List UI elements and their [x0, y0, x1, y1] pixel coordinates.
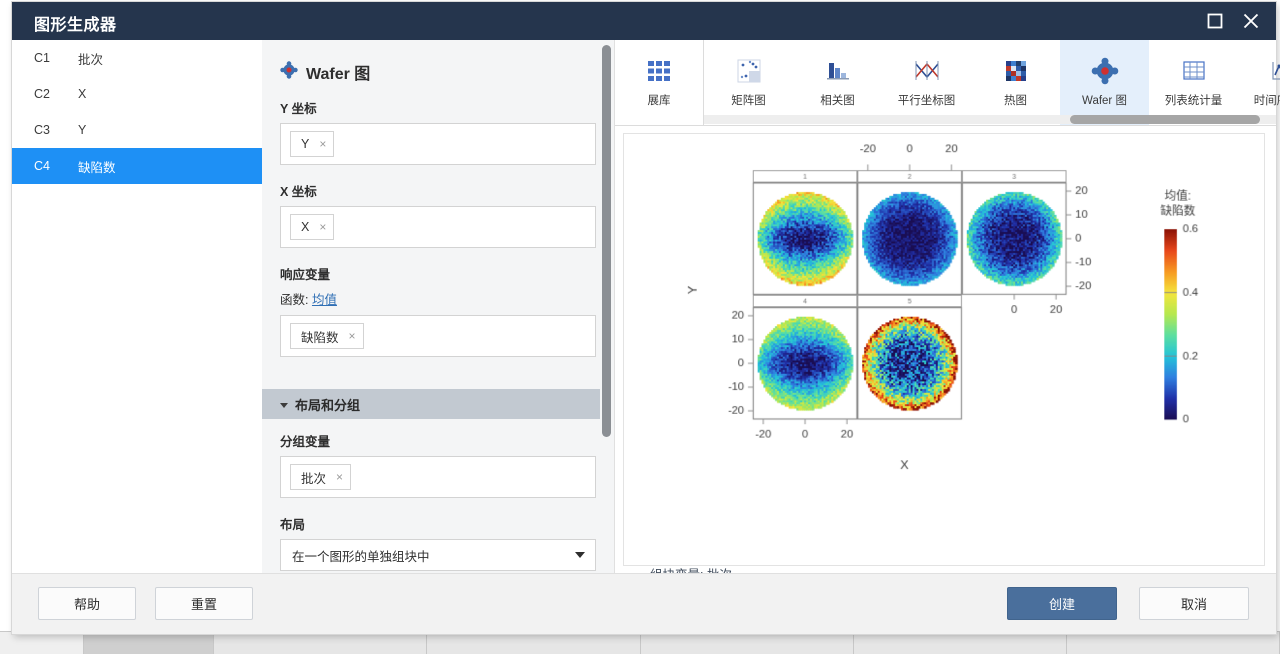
gallery-grid-icon [646, 57, 672, 85]
chip-label: Y [301, 137, 309, 151]
x-axis-dropzone[interactable]: X × [280, 206, 596, 248]
dialog-titlebar: 图形生成器 [12, 2, 1276, 40]
column-id: C1 [12, 51, 78, 65]
response-variable-label: 响应变量 [280, 264, 596, 283]
worksheet-column-header[interactable] [84, 632, 214, 654]
column-row-c4[interactable]: C4 缺陷数 [12, 148, 262, 184]
heatmap-icon [1003, 57, 1029, 85]
column-name: X [78, 87, 262, 101]
column-name: 缺陷数 [78, 157, 262, 176]
function-prefix: 函数: [280, 293, 308, 307]
gallery-item-label: 矩阵图 [731, 92, 766, 108]
chip-y[interactable]: Y × [290, 131, 334, 157]
chip-remove-icon[interactable]: × [319, 220, 326, 234]
column-row-c1[interactable]: C1 批次 [12, 40, 262, 76]
layout-grouping-section: 分组变量 批次 × 布局 在一个图形的单独组块中 [262, 419, 614, 574]
gallery-item-heatmap[interactable]: 热图 [971, 40, 1060, 125]
options-scroll-content: Wafer 图 Y 坐标 Y × X 坐标 X × [262, 40, 614, 574]
worksheet-column-header[interactable] [427, 632, 640, 654]
help-button[interactable]: 帮助 [38, 587, 136, 620]
x-axis-label: X 坐标 [280, 181, 596, 200]
table-stats-icon [1181, 57, 1207, 85]
section-heading-label: Wafer 图 [306, 60, 370, 84]
create-button[interactable]: 创建 [1007, 587, 1117, 620]
response-dropzone[interactable]: 缺陷数 × [280, 315, 596, 357]
window-controls [1204, 2, 1262, 40]
function-link[interactable]: 均值 [312, 293, 337, 307]
parallel-coordinates-icon [912, 57, 942, 85]
gallery-item-label: 热图 [1004, 92, 1027, 108]
wafer-icon [280, 61, 298, 84]
column-name: Y [78, 123, 262, 137]
column-name: 批次 [78, 49, 262, 68]
dialog-title: 图形生成器 [34, 11, 117, 35]
close-icon[interactable] [1240, 10, 1262, 32]
gallery-item-matrix-plot[interactable]: 矩阵图 [704, 40, 793, 125]
chip-remove-icon[interactable]: × [319, 137, 326, 151]
chip-response[interactable]: 缺陷数 × [290, 323, 364, 349]
right-panel: 展库 矩阵图 [615, 40, 1276, 574]
options-panel: Wafer 图 Y 坐标 Y × X 坐标 X × [262, 40, 615, 574]
chip-remove-icon[interactable]: × [349, 329, 356, 343]
graph-builder-dialog: 图形生成器 C1 批次 C2 X [12, 2, 1276, 634]
dialog-footer: 帮助 重置 创建 取消 [12, 573, 1276, 634]
worksheet-column-header[interactable] [1067, 632, 1280, 654]
section-heading: Wafer 图 [280, 60, 596, 84]
group-variable-label: 分组变量 [280, 431, 596, 450]
chip-remove-icon[interactable]: × [336, 470, 343, 484]
wafer-map-icon [1091, 57, 1119, 85]
columns-list: C1 批次 C2 X C3 Y C4 缺陷数 [12, 40, 263, 574]
column-id: C2 [12, 87, 78, 101]
y-axis-dropzone[interactable]: Y × [280, 123, 596, 165]
section-layout-grouping-label: 布局和分组 [295, 395, 360, 414]
gallery-item-label: Wafer 图 [1082, 92, 1127, 108]
dialog-body: C1 批次 C2 X C3 Y C4 缺陷数 [12, 40, 1276, 574]
layout-select[interactable]: 在一个图形的单独组块中 [280, 539, 596, 571]
worksheet-column-header[interactable] [214, 632, 427, 654]
correlogram-icon [824, 57, 852, 85]
gallery-item-correlogram[interactable]: 相关图 [793, 40, 882, 125]
layout-label: 布局 [280, 514, 596, 533]
options-scrollbar[interactable] [600, 40, 614, 574]
gallery-item-parallel-coordinates[interactable]: 平行坐标图 [882, 40, 971, 125]
timeseries-icon [1269, 57, 1280, 85]
gallery-scrollbar-thumb[interactable] [1070, 115, 1260, 124]
reset-button[interactable]: 重置 [155, 587, 253, 620]
gallery-horizontal-scrollbar[interactable] [704, 115, 1276, 124]
gallery-item-table-stats[interactable]: 列表统计量 [1149, 40, 1238, 125]
graph-gallery-toolbar: 展库 矩阵图 [615, 40, 1276, 126]
gallery-item-label: 展库 [648, 92, 671, 108]
gallery-item-label: 相关图 [820, 92, 855, 108]
chip-label: X [301, 220, 309, 234]
column-row-c3[interactable]: C3 Y [12, 112, 262, 148]
cancel-button[interactable]: 取消 [1139, 587, 1249, 620]
layout-select-value: 在一个图形的单独组块中 [292, 546, 430, 565]
worksheet-column-header[interactable] [641, 632, 854, 654]
section-layout-grouping-header[interactable]: 布局和分组 [262, 389, 614, 419]
variables-section: Wafer 图 Y 坐标 Y × X 坐标 X × [262, 40, 614, 389]
column-id: C4 [12, 159, 78, 173]
chip-x[interactable]: X × [290, 214, 334, 240]
gallery-item-gallery[interactable]: 展库 [615, 40, 704, 125]
wafer-map-chart [624, 134, 1264, 565]
gallery-item-label: 平行坐标图 [898, 92, 956, 108]
gallery-item-label: 列表统计量 [1165, 92, 1223, 108]
gallery-item-timeseries[interactable]: 时间序列图 [1238, 40, 1280, 125]
matrix-plot-icon [735, 57, 763, 85]
y-axis-label: Y 坐标 [280, 98, 596, 117]
chip-label: 批次 [301, 468, 326, 487]
graph-preview-area: 组块变量: 批次 [623, 133, 1265, 566]
column-id: C3 [12, 123, 78, 137]
gallery-item-wafer-map[interactable]: Wafer 图 [1060, 40, 1149, 125]
worksheet-column-headers [0, 631, 1280, 654]
column-row-c2[interactable]: C2 X [12, 76, 262, 112]
chip-group-variable[interactable]: 批次 × [290, 464, 351, 490]
chip-label: 缺陷数 [301, 327, 339, 346]
group-variable-dropzone[interactable]: 批次 × [280, 456, 596, 498]
collapse-triangle-icon [280, 403, 288, 408]
worksheet-column-header[interactable] [0, 632, 84, 654]
options-scrollbar-thumb[interactable] [602, 45, 611, 437]
chevron-down-icon [575, 552, 585, 558]
function-row: 函数: 均值 [280, 289, 596, 308]
maximize-icon[interactable] [1204, 10, 1226, 32]
gallery-item-label: 时间序列图 [1254, 92, 1280, 108]
worksheet-column-header[interactable] [854, 632, 1067, 654]
